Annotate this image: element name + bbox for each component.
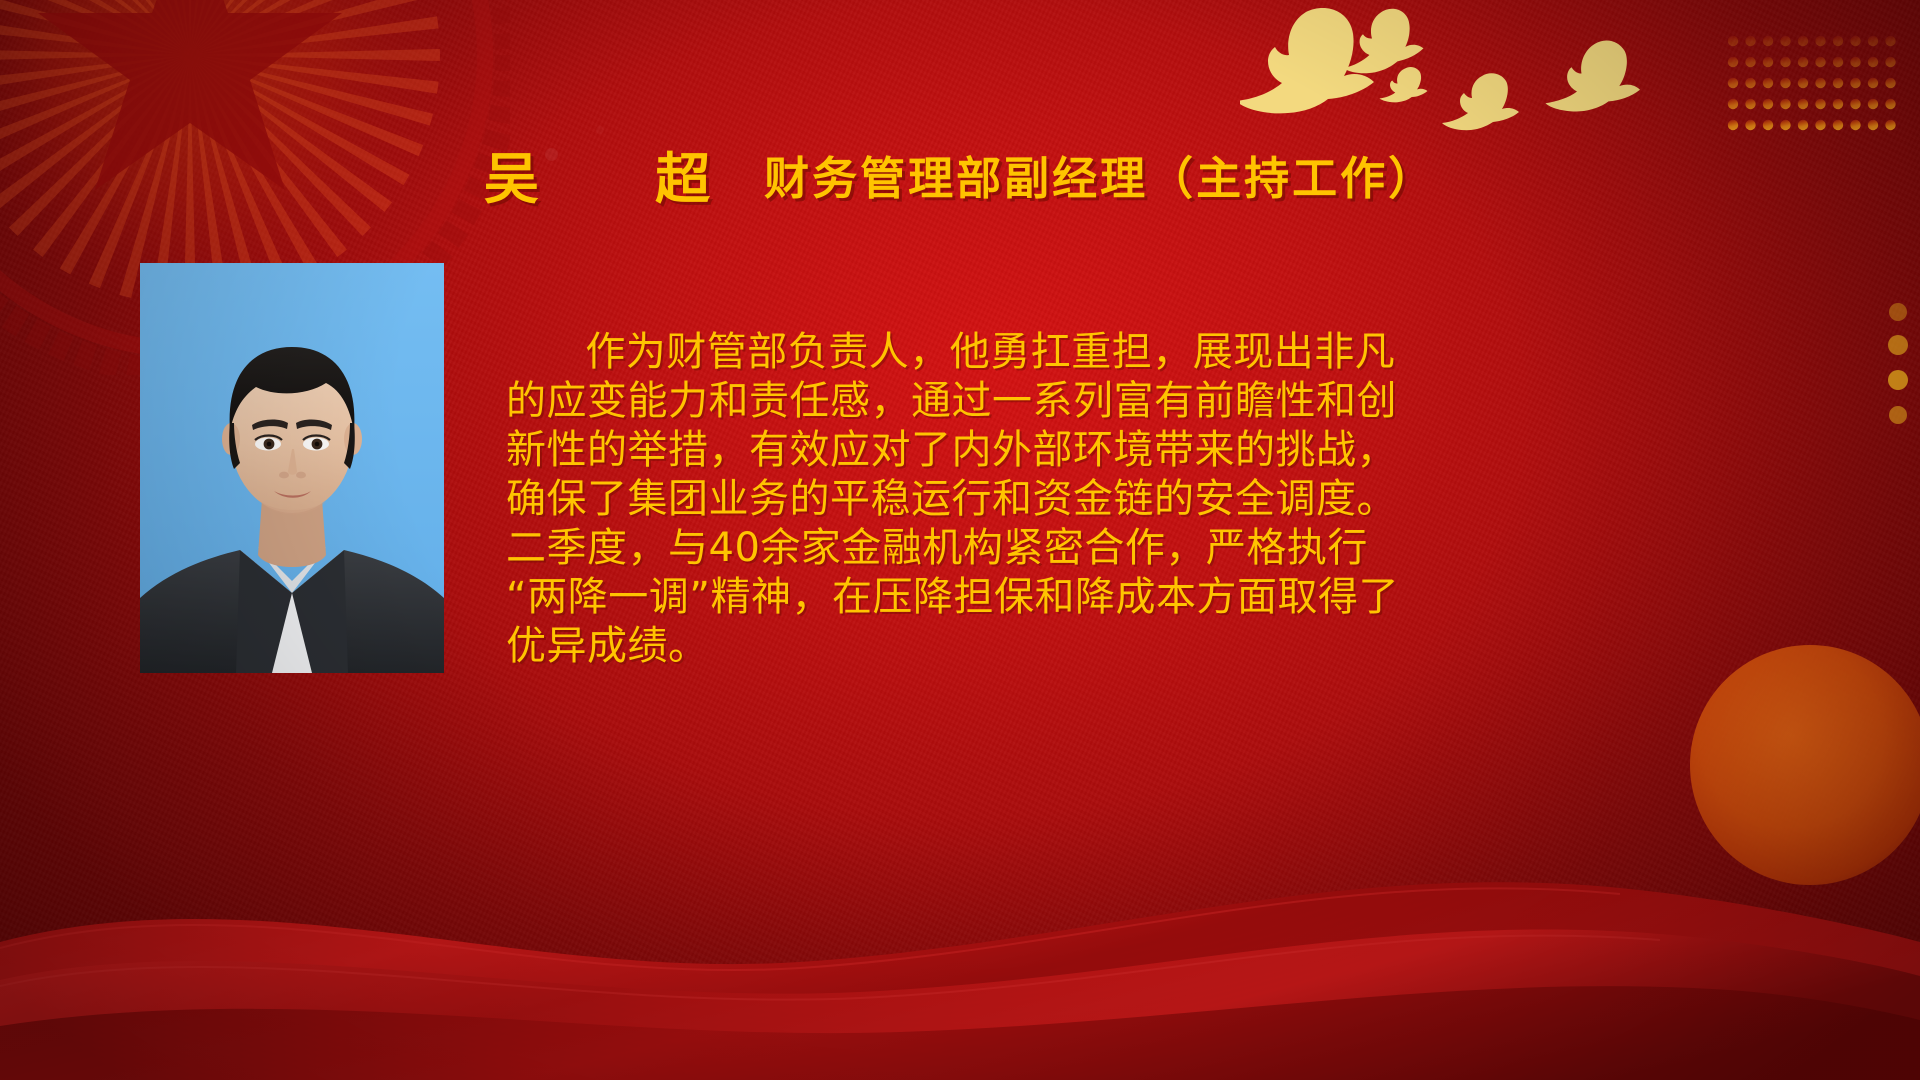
slide-canvas: 吴 超 财务管理部副经理（主持工作） xyxy=(0,0,1920,1080)
dot-grid-pattern-icon xyxy=(1725,33,1900,143)
silk-ribbon-wave-icon xyxy=(0,830,1920,1080)
portrait-photo-frame xyxy=(140,263,444,673)
bokeh-dot xyxy=(596,126,604,134)
slide-header: 吴 超 财务管理部副经理（主持工作） xyxy=(0,138,1920,210)
person-name: 吴 超 xyxy=(484,134,736,214)
person-role: 财务管理部副经理（主持工作） xyxy=(764,142,1436,207)
orange-glow-circle-icon xyxy=(1690,645,1920,885)
vertical-dot-column-icon xyxy=(1885,300,1911,430)
portrait-photo xyxy=(140,263,444,673)
biography-text: 作为财管部负责人，他勇扛重担，展现出非凡的应变能力和责任感，通过一系列富有前瞻性… xyxy=(506,328,1406,671)
